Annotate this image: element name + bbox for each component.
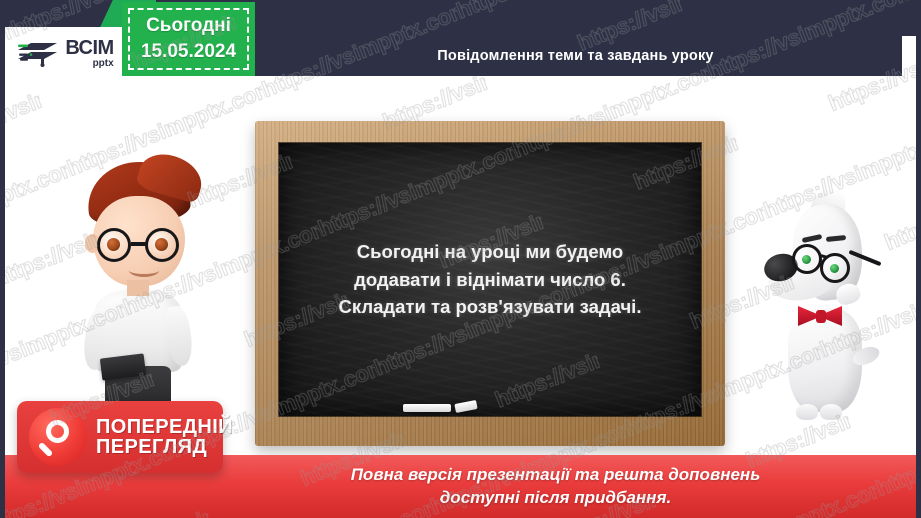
blackboard-line-2: додавати і віднімати число 6. [339, 266, 642, 294]
date-badge: Сьогодні 15.05.2024 [122, 2, 255, 76]
footer-line-2: доступні після придбання. [351, 487, 761, 509]
preview-badge-line-1: ПОПЕРЕДНІЙ [96, 417, 233, 437]
character-boy [67, 160, 207, 408]
blackboard-surface: Сьогодні на уроці ми будемо додавати і в… [279, 143, 701, 416]
preview-badge[interactable]: ПОПЕРЕДНІЙ ПЕРЕГЛЯД [17, 401, 223, 473]
brand-logo-text: ВСІМ pptx [65, 38, 113, 69]
date-badge-value: 15.05.2024 [141, 39, 236, 65]
blackboard-line-3: Складати та розв'язувати задачі. [339, 293, 642, 321]
blackboard: Сьогодні на уроці ми будемо додавати і в… [255, 121, 725, 446]
dog-foot-right [820, 404, 842, 420]
preview-badge-line-2: ПЕРЕГЛЯД [96, 437, 233, 457]
blackboard-text: Сьогодні на уроці ми будемо додавати і в… [325, 238, 656, 321]
magnifier-icon [29, 408, 87, 466]
boy-neck [127, 280, 149, 296]
magnifier-handle [38, 442, 53, 457]
brand-logo-title: ВСІМ [65, 38, 113, 58]
boy-eye-left [107, 238, 120, 251]
preview-badge-text: ПОПЕРЕДНІЙ ПЕРЕГЛЯД [96, 417, 233, 458]
boy-glasses-bridge [131, 242, 147, 246]
page-title: Повідомлення теми та завдань уроку [437, 48, 713, 64]
dog-eye-right [830, 264, 839, 273]
date-badge-label: Сьогодні [146, 13, 231, 39]
boy-smile [129, 264, 159, 277]
graduation-cap-icon [17, 39, 61, 69]
footer-text: Повна версія презентації та решта доповн… [171, 464, 761, 509]
footer-line-1: Повна версія презентації та решта доповн… [351, 464, 761, 486]
header-title-bar: Повідомлення теми та завдань уроку [249, 36, 902, 76]
dog-glasses-temple [848, 250, 881, 266]
blackboard-line-1: Сьогодні на уроці ми будемо [339, 238, 642, 266]
magnifier-ring [46, 420, 69, 443]
boy-eye-right [155, 238, 168, 251]
brand-logo-subtitle: pptx [93, 59, 114, 69]
dog-eye-left [802, 255, 811, 264]
boy-glasses-icon [95, 228, 185, 262]
dog-bowtie-knot [816, 310, 826, 323]
chalk-piece-long [403, 404, 451, 412]
dog-foot-left [796, 404, 818, 420]
dog-glasses-icon [792, 244, 868, 278]
slide-root: ВСІМ pptx Сьогодні 15.05.2024 Повідомлен… [0, 0, 921, 518]
character-dog [758, 188, 886, 440]
brand-logo[interactable]: ВСІМ pptx [0, 27, 131, 80]
